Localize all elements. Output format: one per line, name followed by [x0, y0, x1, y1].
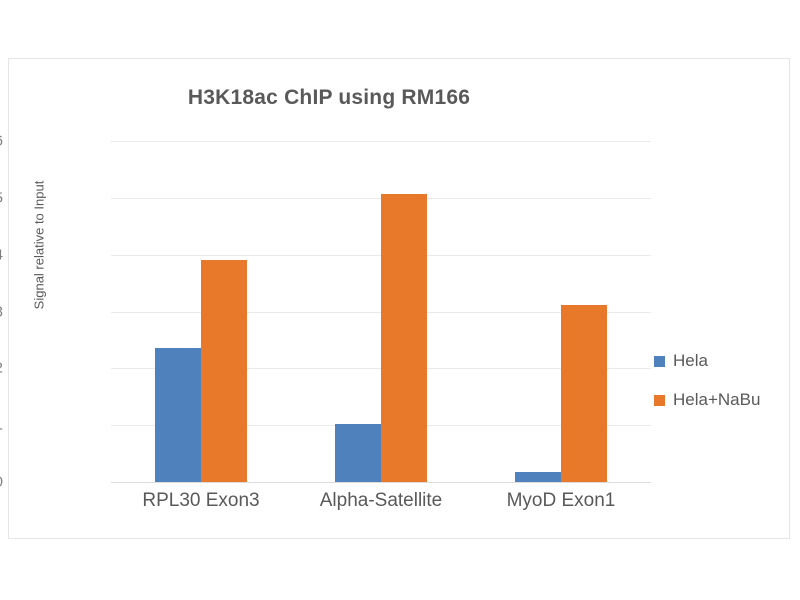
- y-axis-tick-label: 0.4: [0, 246, 3, 263]
- chart-frame: H3K18ac ChIP using RM166 Signal relative…: [8, 58, 790, 539]
- y-axis-tick-label: 0.5: [0, 189, 3, 206]
- x-axis-category-label: Alpha-Satellite: [320, 490, 443, 512]
- gridline: [111, 482, 651, 483]
- chart-legend: HelaHela+NaBu: [654, 351, 760, 429]
- bar-group: [335, 141, 427, 482]
- bar[interactable]: [155, 348, 201, 482]
- legend-swatch-icon: [654, 356, 665, 367]
- legend-swatch-icon: [654, 395, 665, 406]
- plot-area: 00.10.20.30.40.50.6 RPL30 Exon3Alpha-Sat…: [111, 141, 651, 482]
- bar-group: [155, 141, 247, 482]
- y-axis-tick-label: 0.3: [0, 303, 3, 320]
- bar[interactable]: [381, 194, 427, 482]
- bar[interactable]: [201, 260, 247, 482]
- y-axis-tick-label: 0.6: [0, 133, 3, 150]
- bar[interactable]: [561, 305, 607, 482]
- legend-entry[interactable]: Hela: [654, 351, 760, 371]
- legend-entry[interactable]: Hela+NaBu: [654, 390, 760, 410]
- legend-label: Hela: [673, 351, 708, 371]
- y-axis-tick-label: 0: [0, 474, 3, 491]
- bar[interactable]: [515, 472, 561, 482]
- x-axis-category-label: RPL30 Exon3: [142, 490, 259, 512]
- y-axis-title: Signal relative to Input: [32, 181, 47, 310]
- y-axis-tick-label: 0.1: [0, 417, 3, 434]
- bar[interactable]: [335, 424, 381, 482]
- chart-title: H3K18ac ChIP using RM166: [9, 86, 649, 110]
- y-axis-tick-label: 0.2: [0, 360, 3, 377]
- bar-group: [515, 141, 607, 482]
- legend-label: Hela+NaBu: [673, 390, 760, 410]
- x-axis-category-label: MyoD Exon1: [507, 490, 616, 512]
